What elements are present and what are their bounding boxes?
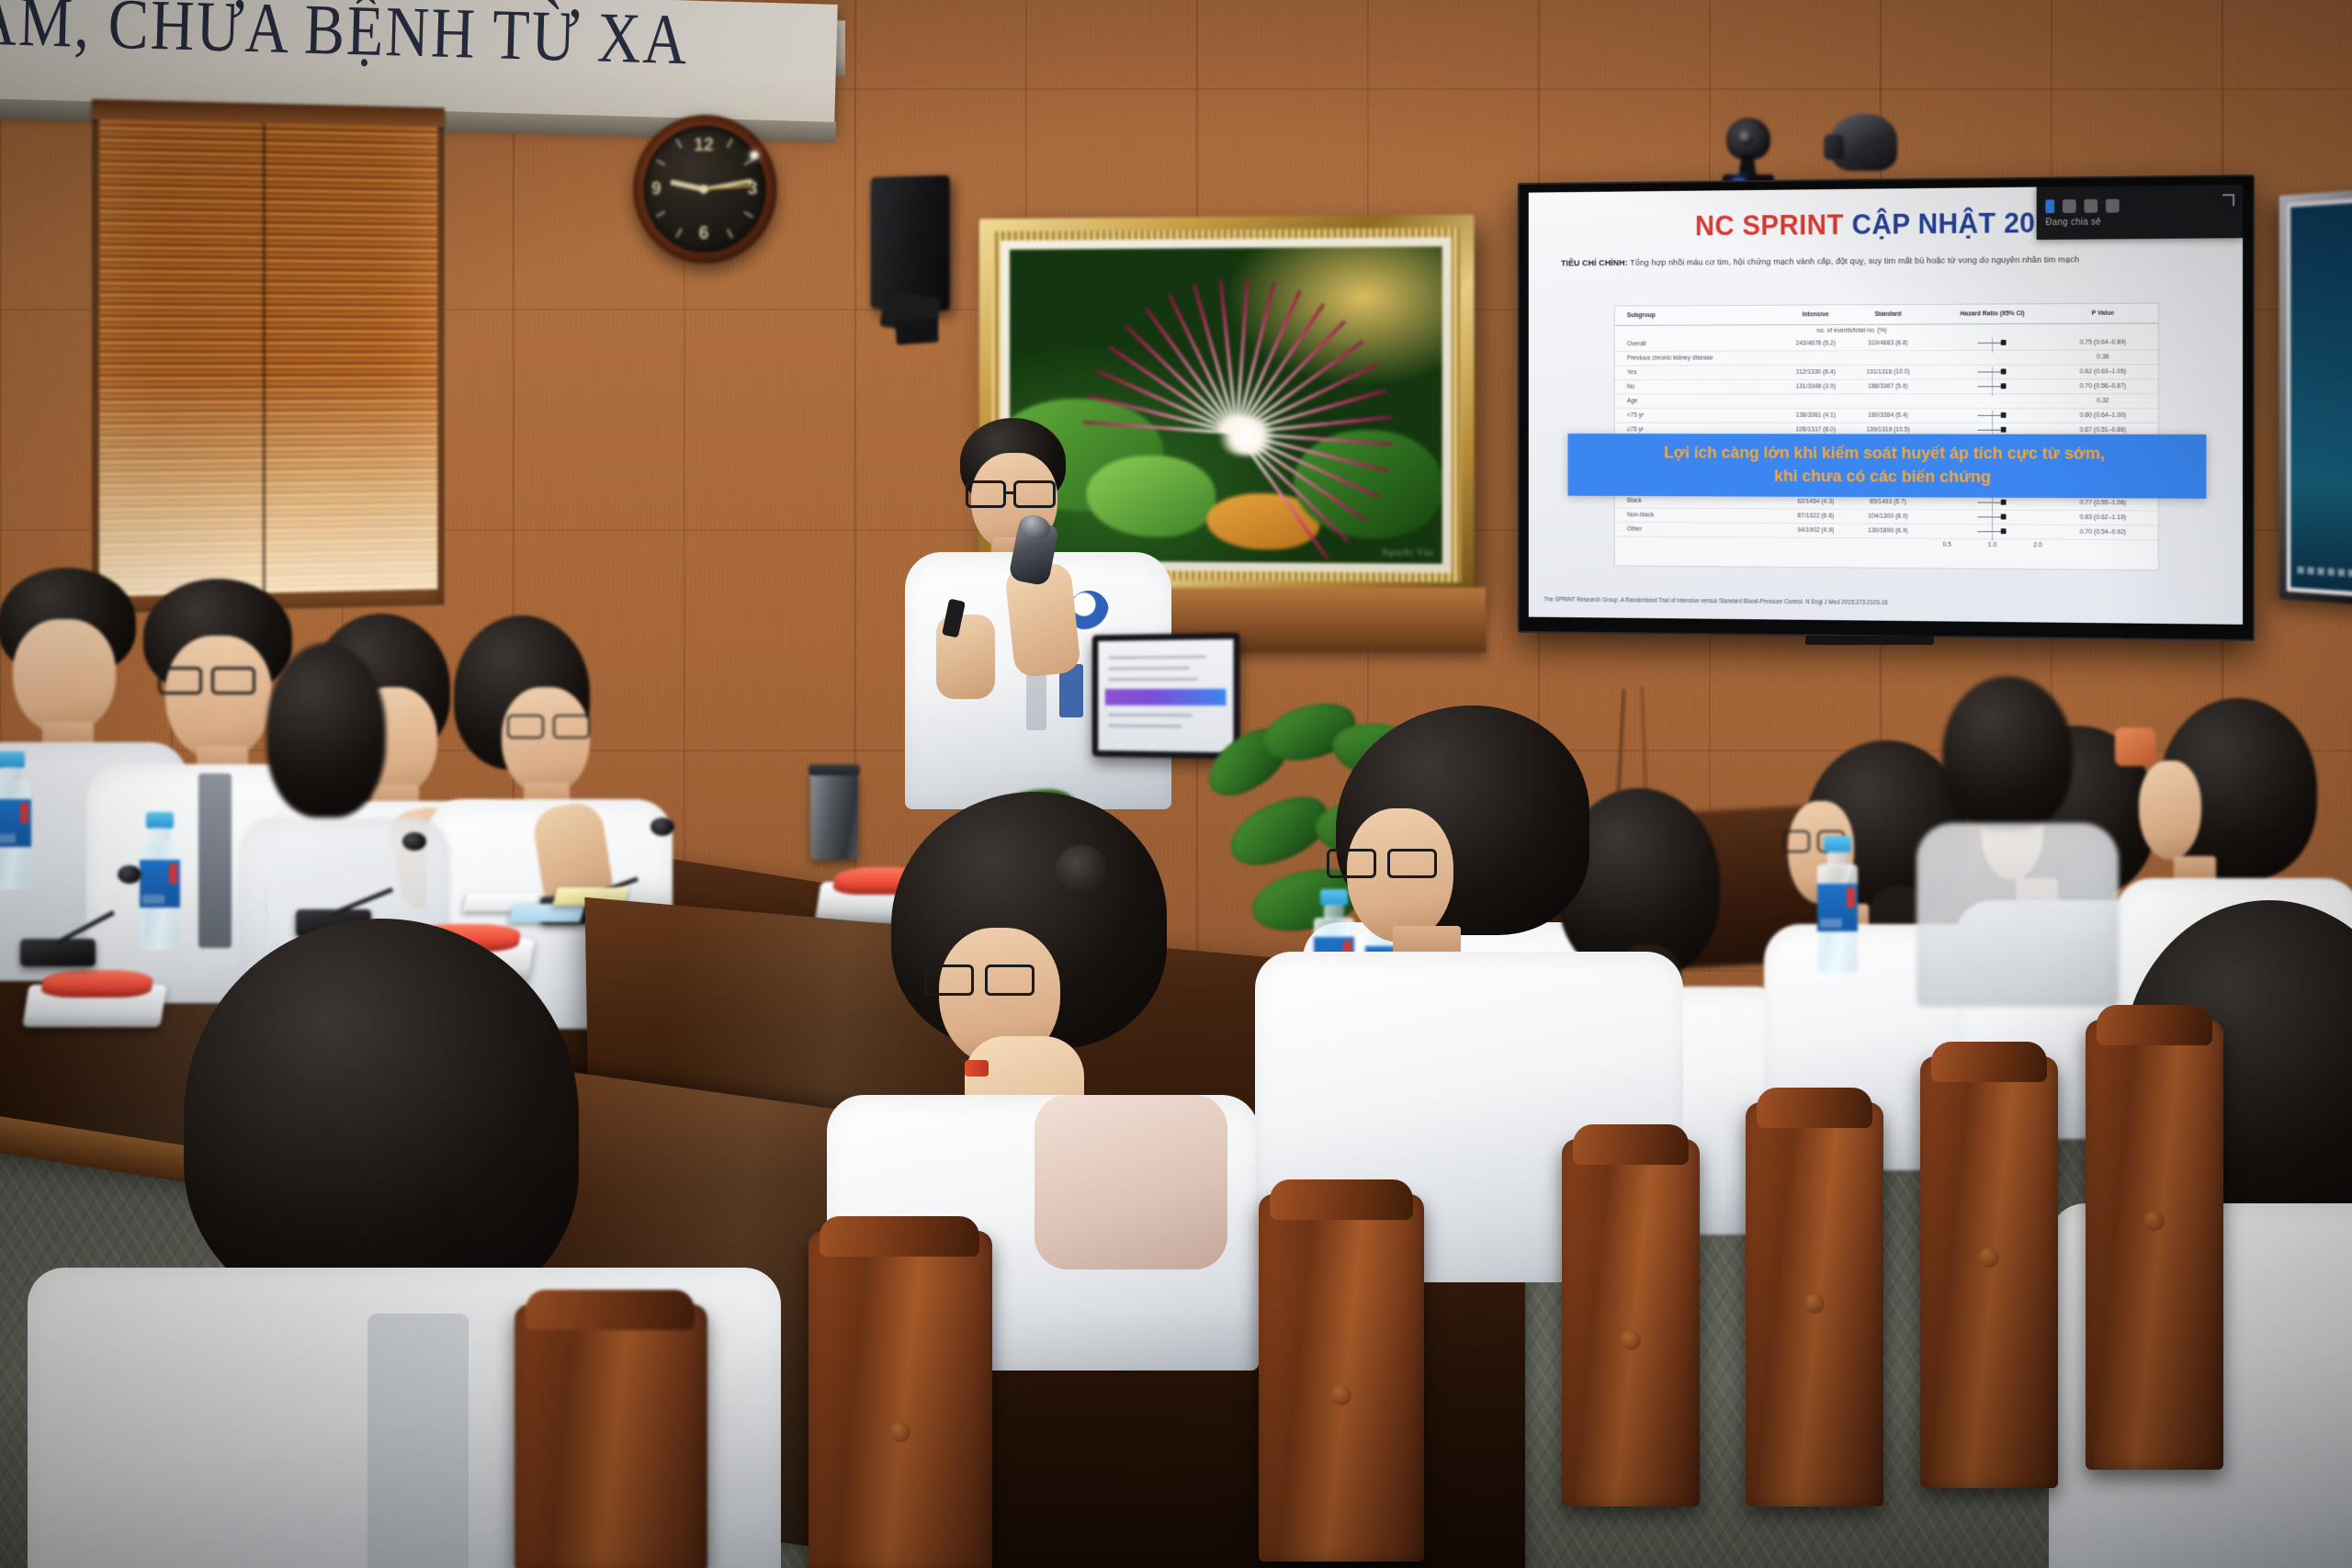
slide-subtitle-label: TIÊU CHÍ CHÍNH: <box>1561 258 1628 268</box>
table-row: <75 yr 138/3361 (4.1) 180/3364 (5.4) 0.8… <box>1615 409 2158 423</box>
participants-icon[interactable] <box>2045 199 2054 213</box>
wall-clock: 12 3 6 9 <box>633 113 777 265</box>
beige-sleeve <box>1035 1095 1227 1269</box>
col-intensive: Intensive <box>1780 311 1851 318</box>
room-banner-text: HÁM, CHỮA BỆNH TỪ XA <box>0 0 690 82</box>
presentation-screen[interactable]: NC SPRINT CẬP NHẬT 2021 TIÊU CHÍ CHÍNH: … <box>1529 185 2243 625</box>
slide-subtitle-text: Tổng hợp nhồi máu cơ tim, hội chứng mạch… <box>1630 254 2079 267</box>
audience-member <box>1920 676 2104 933</box>
video-conference-bar[interactable]: Đang chia sẻ <box>2037 185 2243 240</box>
wooden-conference-chair[interactable] <box>808 1231 992 1568</box>
clock-highlight <box>750 151 758 159</box>
presenter-glasses-icon <box>966 480 1061 508</box>
wooden-conference-chair[interactable] <box>1259 1194 1424 1562</box>
bottled-water[interactable] <box>1817 836 1858 974</box>
blinds-slats <box>99 119 437 597</box>
eyeglasses-icon <box>1327 849 1442 878</box>
slide-title-blue: CẬP NHẬT 2021 <box>1851 207 2066 241</box>
blinds-cord <box>263 123 266 593</box>
video-conference-status: Đang chia sẻ <box>2045 216 2233 228</box>
share-icon[interactable] <box>2106 198 2120 212</box>
col-standard: Standard <box>1852 311 1925 318</box>
framed-certificate-caption <box>2298 566 2352 577</box>
table-subheader-units: no. of events/total no. (%) <box>1780 327 1924 333</box>
wooden-conference-chair[interactable] <box>514 1304 707 1568</box>
microphone-head-icon <box>402 832 426 851</box>
wooden-conference-chair[interactable] <box>2086 1020 2223 1470</box>
table-row: Overall 243/4678 (5.2) 319/4683 (6.8) 0.… <box>1615 335 2158 352</box>
conference-room-photo: HÁM, CHỮA BỆNH TỪ XA 12 3 6 9 <box>0 0 2352 1568</box>
wooden-conference-chair[interactable] <box>1562 1139 1700 1506</box>
clock-number-12: 12 <box>694 135 714 156</box>
framed-certificate <box>2279 188 2352 606</box>
clock-center-cap <box>699 185 708 194</box>
camera-icon[interactable] <box>2084 198 2098 212</box>
forest-axis-labels: 0.5 1.0 2.0 <box>1615 536 2158 552</box>
painting-signature: Nguyễn Văn <box>1382 547 1433 557</box>
col-hazard: Hazard Ratio (95% CI) <box>1925 310 2061 318</box>
wooden-conference-chair[interactable] <box>1746 1102 1883 1506</box>
col-pvalue: P Value <box>2061 310 2145 317</box>
ptz-camera-icon <box>1723 118 1774 189</box>
highlight-line-1: Lợi ích càng lớn khi kiểm soát huyết áp … <box>1577 441 2198 466</box>
presentation-display[interactable]: NC SPRINT CẬP NHẬT 2021 TIÊU CHÍ CHÍNH: … <box>1518 175 2255 641</box>
table-row: No 131/3348 (3.9) 188/3367 (5.6) 0.70 (0… <box>1615 379 2158 394</box>
expand-icon[interactable] <box>2222 194 2234 206</box>
display-stand <box>1805 636 1934 645</box>
slide-highlight-callout: Lợi ích càng lớn khi kiểm soát huyết áp … <box>1567 434 2206 499</box>
microphone-head-icon <box>118 865 141 884</box>
microphone-head-icon <box>650 818 674 836</box>
slide-footnote: The SPRINT Research Group. A Randomized … <box>1543 597 2226 610</box>
coat-seam <box>367 1314 469 1568</box>
table-header-row: Subgroup Intensive Standard Hazard Ratio… <box>1615 304 2158 326</box>
table-row: Age 0.32 <box>1615 394 2158 409</box>
slide-title-red: NC SPRINT <box>1695 209 1844 242</box>
window-blinds <box>92 99 445 614</box>
clock-number-9: 9 <box>651 179 661 200</box>
eyeglasses-icon <box>924 964 1040 996</box>
clock-number-6: 6 <box>699 223 709 244</box>
clock-face: 12 3 6 9 <box>644 125 766 254</box>
thermal-tumbler[interactable] <box>810 770 858 860</box>
hair-bun <box>1055 845 1108 897</box>
table-row: Yes 112/1330 (8.4) 131/1316 (10.0) 0.82 … <box>1615 365 2158 380</box>
framed-certificate-art <box>2287 197 2352 598</box>
highlight-line-2: khi chưa có các biến chứng <box>1577 463 2198 488</box>
slide-subtitle: TIÊU CHÍ CHÍNH: Tổng hợp nhồi máu cơ tim… <box>1561 251 2215 272</box>
video-conference-icons[interactable] <box>2045 197 2233 213</box>
microphone-icon[interactable] <box>2063 199 2076 213</box>
wooden-conference-chair[interactable] <box>1920 1056 2058 1488</box>
wrist-bracelet <box>965 1060 989 1077</box>
speaker-mount-bracket <box>895 318 939 344</box>
table-row: Previous chronic kidney disease 0.36 <box>1615 350 2158 366</box>
conference-camera-lens-icon <box>1824 134 1844 160</box>
wall-speaker <box>871 175 950 310</box>
col-subgroup: Subgroup <box>1627 311 1780 319</box>
camera-lens-icon <box>1738 130 1753 145</box>
